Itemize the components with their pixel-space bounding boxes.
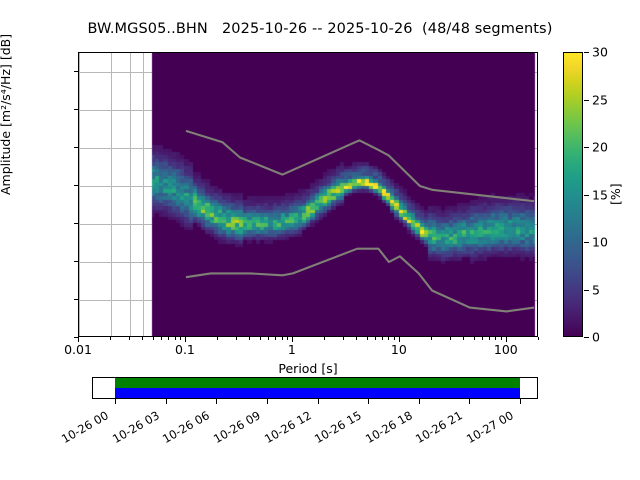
x-tick-label: 1: [288, 342, 296, 357]
x-minor-tick: [343, 337, 344, 340]
colorbar-tick-mark: [584, 290, 589, 291]
nhnm-curve: [186, 131, 534, 201]
colorbar-label: [%]: [608, 183, 623, 205]
coverage-gap-segment: [115, 388, 520, 398]
x-minor-tick: [495, 337, 496, 340]
timeline-tick-label: 10-26 09: [211, 408, 263, 446]
x-minor-tick: [153, 337, 154, 340]
x-minor-tick: [142, 337, 143, 340]
x-minor-tick: [217, 337, 218, 340]
timeline-tick-mark: [419, 399, 420, 404]
y-tick-mark: [74, 337, 79, 338]
x-minor-tick: [180, 337, 181, 340]
x-tick-label: 0.01: [64, 342, 92, 357]
x-minor-tick: [236, 337, 237, 340]
timeline-tick-mark: [318, 399, 319, 404]
x-minor-tick: [367, 337, 368, 340]
y-tick-mark: [74, 299, 79, 300]
x-minor-tick: [275, 337, 276, 340]
coverage-data-segment: [115, 378, 520, 388]
timeline-tick-label: 10-27 00: [464, 408, 516, 446]
timeline-tick-label: 10-26 18: [363, 408, 415, 446]
x-minor-tick: [324, 337, 325, 340]
colorbar-tick-mark: [584, 242, 589, 243]
x-tick-mark: [292, 337, 293, 342]
timeline-tick-label: 10-26 21: [413, 408, 465, 446]
timeline-tick-label: 10-26 15: [312, 408, 364, 446]
x-tick-mark: [506, 337, 507, 342]
x-axis-label: Period [s]: [78, 361, 538, 376]
y-tick-mark: [74, 185, 79, 186]
timeline-tick-mark: [469, 399, 470, 404]
timeline-tick-mark: [267, 399, 268, 404]
colorbar-tick-mark: [584, 195, 589, 196]
timeline-tick-mark: [166, 399, 167, 404]
x-tick-label: 10: [391, 342, 407, 357]
x-minor-tick: [450, 337, 451, 340]
y-tick-mark: [74, 147, 79, 148]
timeline-tick-mark: [368, 399, 369, 404]
x-minor-tick: [287, 337, 288, 340]
y-axis-label: Amplitude [m²/s⁴/Hz] [dB]: [0, 34, 13, 195]
timeline-tick-label: 10-26 03: [110, 408, 162, 446]
y-tick-mark: [74, 223, 79, 224]
colorbar-tick-label: 15: [592, 187, 608, 202]
timeline-tick-label: 10-26 12: [262, 408, 314, 446]
coverage-timeline[interactable]: [92, 377, 538, 399]
ppsd-plot-area: [78, 52, 538, 337]
y-tick-mark: [74, 109, 79, 110]
x-minor-tick: [394, 337, 395, 340]
x-minor-tick: [168, 337, 169, 340]
x-tick-label: 0.1: [175, 342, 195, 357]
timeline-tick-mark: [115, 399, 116, 404]
timeline-tick-label: 10-26 00: [59, 408, 111, 446]
colorbar-tick-mark: [584, 100, 589, 101]
timeline-tick-mark: [520, 399, 521, 404]
timeline-tick-label: 10-26 06: [160, 408, 212, 446]
x-minor-tick: [474, 337, 475, 340]
x-minor-tick: [463, 337, 464, 340]
x-minor-tick: [110, 337, 111, 340]
colorbar-tick-label: 25: [592, 92, 608, 107]
x-minor-tick: [382, 337, 383, 340]
noise-model-layer: [79, 53, 538, 337]
nlnm-curve: [186, 249, 534, 312]
ppsd-figure: BW.MGS05..BHN 2025-10-26 -- 2025-10-26 (…: [0, 0, 640, 480]
x-minor-tick: [375, 337, 376, 340]
x-minor-tick: [161, 337, 162, 340]
x-minor-tick: [268, 337, 269, 340]
colorbar-tick-label: 0: [592, 330, 600, 345]
x-minor-tick: [489, 337, 490, 340]
colorbar-tick-mark: [584, 337, 589, 338]
x-minor-tick: [249, 337, 250, 340]
x-minor-tick: [538, 337, 539, 340]
x-minor-tick: [431, 337, 432, 340]
x-minor-tick: [356, 337, 357, 340]
x-tick-mark: [78, 337, 79, 342]
colorbar: [563, 52, 583, 337]
y-tick-mark: [74, 261, 79, 262]
x-minor-tick: [175, 337, 176, 340]
timeline-tick-mark: [216, 399, 217, 404]
figure-title: BW.MGS05..BHN 2025-10-26 -- 2025-10-26 (…: [0, 21, 640, 37]
x-tick-mark: [399, 337, 400, 342]
x-tick-mark: [185, 337, 186, 342]
x-tick-label: 100: [494, 342, 518, 357]
colorbar-tick-label: 5: [592, 282, 600, 297]
colorbar-tick-label: 30: [592, 45, 608, 60]
colorbar-tick-mark: [584, 52, 589, 53]
y-tick-mark: [74, 71, 79, 72]
x-minor-tick: [129, 337, 130, 340]
colorbar-tick-label: 10: [592, 235, 608, 250]
colorbar-tick-label: 20: [592, 140, 608, 155]
x-minor-tick: [282, 337, 283, 340]
colorbar-tick-mark: [584, 147, 589, 148]
x-minor-tick: [501, 337, 502, 340]
x-minor-tick: [260, 337, 261, 340]
x-minor-tick: [482, 337, 483, 340]
x-minor-tick: [388, 337, 389, 340]
